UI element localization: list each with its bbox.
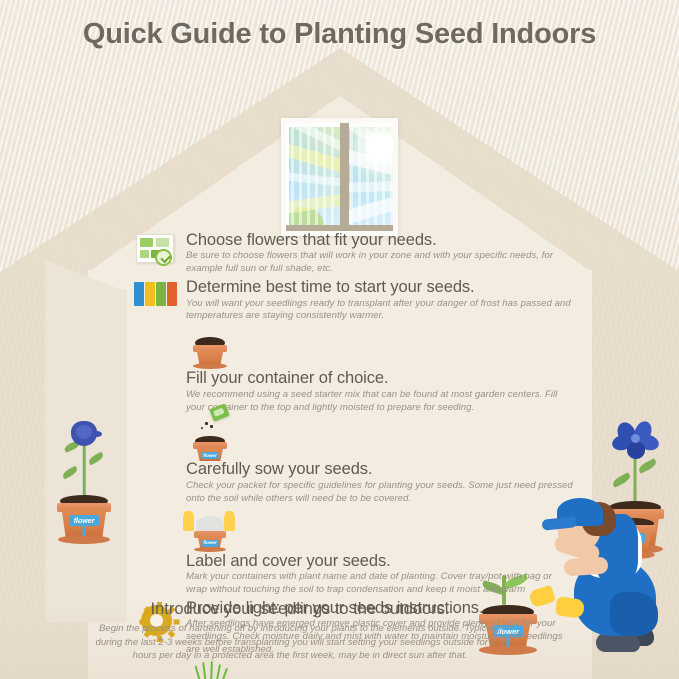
window-pane-right [348,127,397,236]
blind-slat [374,127,377,236]
star-flower-bloom [614,422,658,460]
blind-slat [331,127,334,236]
blind-slat [350,127,353,236]
glove-icon [183,514,194,531]
blind-slat [315,127,318,236]
step-item: Choose flowers that fit your needs. Be s… [133,231,573,276]
step-body: You will want your seedlings ready to tr… [186,298,573,324]
step-item: Determine best time to start your seeds.… [133,278,573,323]
step-body: Check your packet for specific guideline… [186,480,573,506]
step-body: Be sure to choose flowers that will work… [186,250,573,276]
window-illustration [281,118,398,236]
leaf [61,466,78,480]
packet [134,282,144,306]
sprout-blade [202,662,207,679]
stem [83,440,86,502]
infographic-poster: Quick Guide to Planting Seed Indoors [0,0,679,679]
seed-catalog-icon [133,231,181,275]
sprout-blade [215,664,221,679]
step-item: flower Carefully sow your seeds. Check y… [133,416,573,505]
blind-slat [366,127,369,236]
blind-slat [299,127,302,236]
blind-slat [291,127,294,236]
pot-saucer [194,547,226,552]
step-heading: Determine best time to start your seeds. [186,278,573,296]
window-mullion [340,123,349,236]
packet [145,282,155,306]
left-wall-corner [45,260,127,292]
step-heading: Fill your container of choice. [186,369,573,387]
rose-petal [92,431,102,437]
plant-label-tag: flower [202,452,219,459]
step-heading: Choose flowers that fit your needs. [186,231,573,249]
left-potted-flower: flower [48,418,120,546]
leaf [637,458,658,474]
packet-row [134,282,180,306]
filled-pot-icon [186,325,234,369]
sprout-blade [210,661,213,679]
pot-saucer [193,363,227,369]
petal [627,442,645,459]
page-title: Quick Guide to Planting Seed Indoors [0,18,679,51]
leaf [87,452,104,466]
rose-inner [76,425,92,439]
step-body: We recommend using a seed starter mix th… [186,389,573,415]
falling-seed [205,422,208,425]
step-heading: Label and cover your seeds. [186,552,573,570]
overalls-leg [610,592,658,636]
packet-window [213,408,225,417]
step-body: Mark your containers with plant name and… [186,571,573,597]
window-pane-left [289,127,340,236]
outro-heading: Introduce your seedlings to the outdoors… [95,600,505,619]
sowing-seeds-icon: flower [186,416,234,460]
blind-slat [382,127,385,236]
step-item: Fill your container of choice. We recomm… [133,325,573,414]
leaf [611,472,632,488]
pot-saucer [58,535,110,544]
blind-slat [390,127,393,236]
sprout-blade [195,665,202,679]
flower-center [631,434,640,443]
blind-slat [307,127,310,236]
outro-section: Introduce your seedlings to the outdoors… [95,600,505,663]
gloves-covered-pot-icon: flower [186,508,234,552]
blind-slat [358,127,361,236]
falling-seed [201,427,203,429]
packet [156,282,166,306]
falling-seed [210,425,213,428]
check-badge-icon [155,249,172,266]
blind-slat [323,127,326,236]
plant-label-tag: flower [202,540,219,547]
seed-packets-icon [133,278,181,322]
step-heading: Carefully sow your seeds. [186,460,573,478]
packet [167,282,177,306]
step-item: flower Label and cover your seeds. Mark … [133,508,573,597]
outro-body: Begin the process of hardening off by in… [95,622,505,663]
glove-icon [224,514,235,531]
plant-label-tag: flower [69,515,99,526]
sprout-blade [220,668,228,679]
